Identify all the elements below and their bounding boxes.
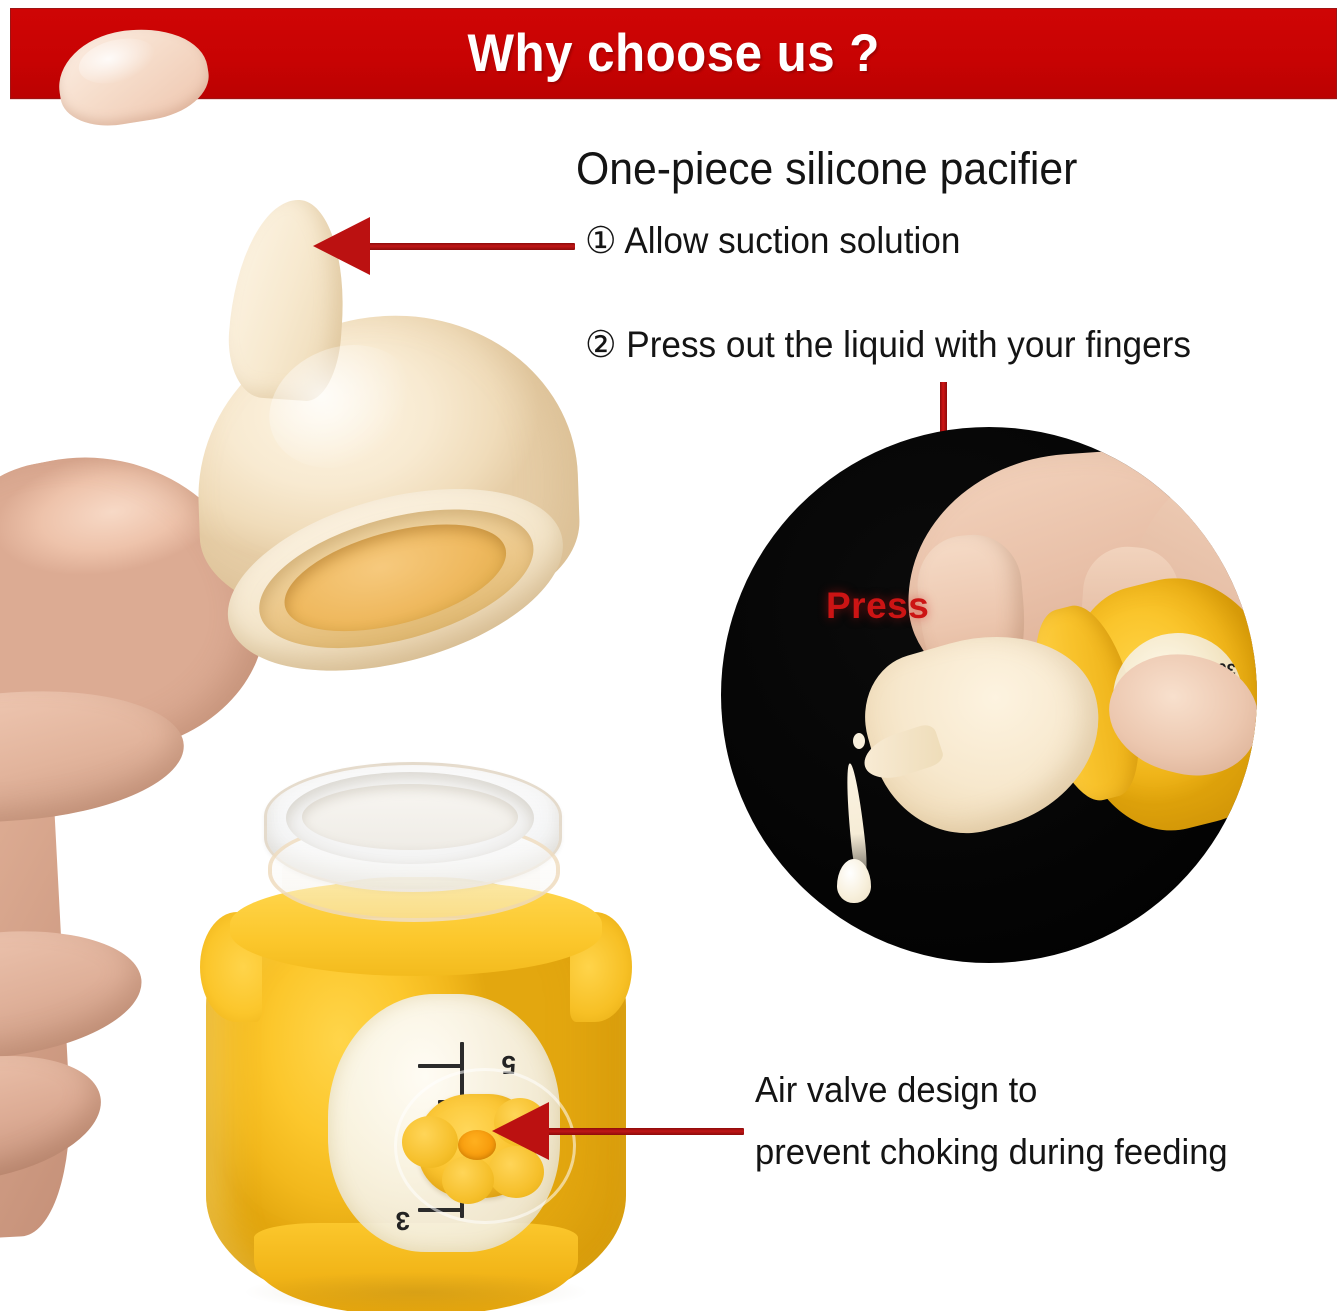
arrow-shaft: [546, 1128, 744, 1135]
arrow-head: [313, 217, 370, 275]
page-title: Why choose us ?: [467, 23, 879, 84]
page-heading: One-piece silicone pacifier: [576, 143, 1077, 195]
valve-lobe: [442, 1156, 494, 1204]
air-valve-note-line2: prevent choking during feeding: [755, 1121, 1228, 1183]
press-demo-inset: 4 12 30 ml Press: [721, 427, 1257, 963]
milk-drip-icon: [853, 733, 865, 749]
arrow-shaft: [367, 243, 575, 250]
header-banner: Why choose us ?: [10, 8, 1337, 99]
silicone-pacifier-icon: [180, 189, 594, 663]
bottle-shadow: [246, 1272, 586, 1311]
valve-lobe: [402, 1116, 458, 1168]
scale-number: 3: [396, 1205, 410, 1236]
air-valve-note-line1: Air valve design to: [755, 1059, 1228, 1121]
bullet-item-1: ① Allow suction solution: [585, 219, 960, 262]
finger-middle: [0, 918, 148, 1066]
air-valve-note: Air valve design to prevent choking duri…: [755, 1059, 1228, 1183]
press-label: Press: [826, 585, 929, 627]
infographic-root: Why choose us ? One-piece silicone pacif…: [0, 0, 1343, 1311]
bullet-item-2: ② Press out the liquid with your fingers: [585, 323, 1191, 366]
baby-bottle-icon: 3 10 5: [206, 762, 626, 1307]
scale-tick: [418, 1064, 464, 1068]
valve-center: [458, 1130, 496, 1160]
arrow-head: [492, 1102, 549, 1160]
glass-mouth-inner: [302, 784, 518, 850]
